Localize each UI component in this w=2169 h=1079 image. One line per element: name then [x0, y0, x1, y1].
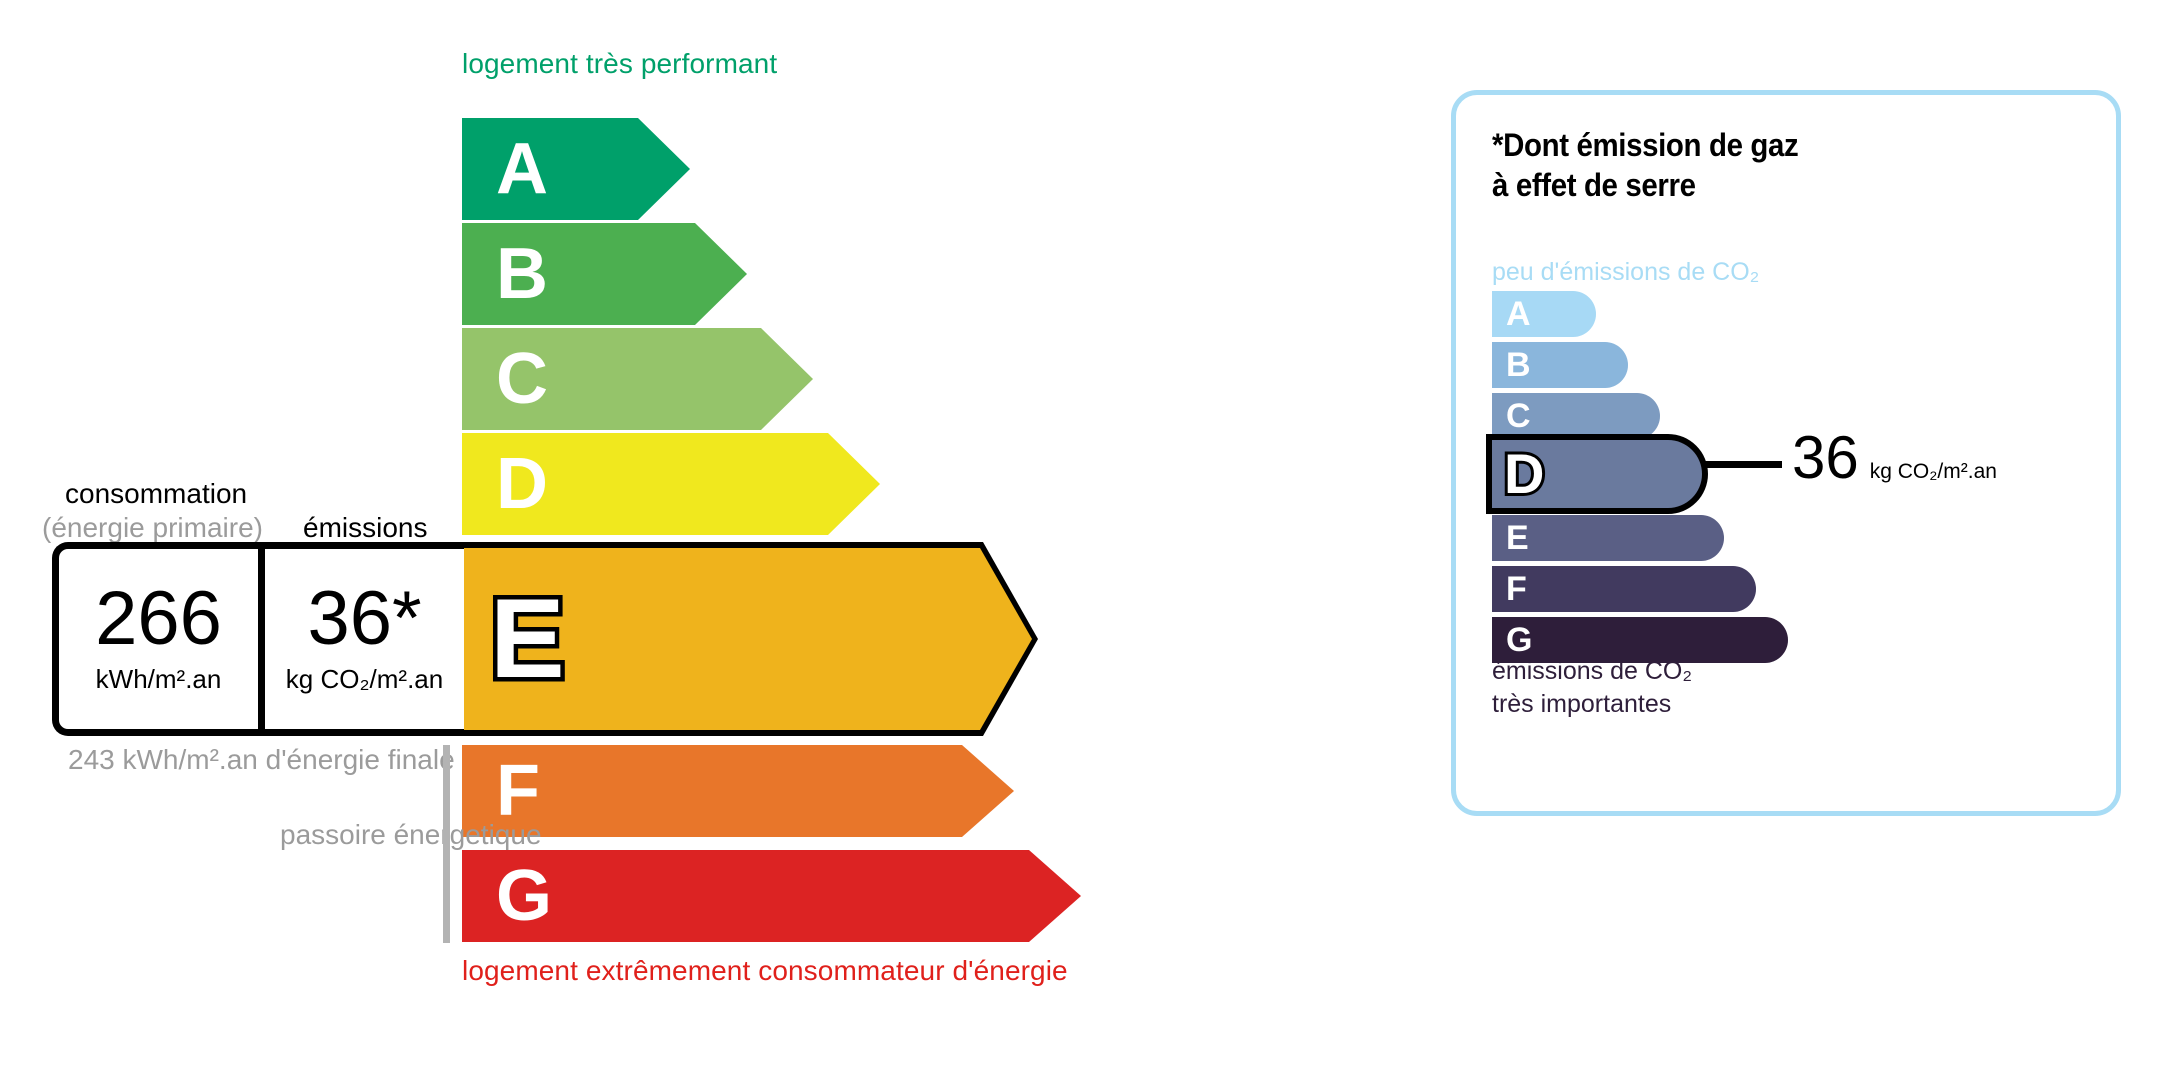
energy-arrow-shape: A — [462, 118, 690, 220]
co2-value-callout: 36 kg CO₂/m².an — [1792, 428, 1997, 488]
co2-bar-b: B — [1492, 342, 1628, 388]
energy-arrow-shape: E — [462, 548, 1032, 730]
dpe-diagram: logement très performant ABCDEFG 266 kWh… — [0, 0, 2169, 1079]
co2-bar-c: C — [1492, 393, 1660, 439]
energy-arrow-shape: B — [462, 223, 747, 325]
passoire-indicator-bar — [443, 745, 450, 943]
energy-arrow-shape: G — [462, 850, 1081, 942]
co2-value-number: 36 — [1792, 428, 1859, 488]
energy-performance-chart: logement très performant ABCDEFG 266 kWh… — [0, 0, 1330, 1079]
energy-class-letter: C — [496, 343, 548, 415]
label-energie-finale: 243 kWh/m².an d'énergie finale — [68, 742, 455, 779]
label-consommation: consommation — [65, 478, 247, 510]
energy-arrow-shape: D — [462, 433, 880, 535]
co2-value-unit: kg CO₂/m².an — [1870, 460, 1997, 484]
co2-class-letter: B — [1506, 348, 1531, 382]
energy-arrow-shape: C — [462, 328, 813, 430]
emission-value: 36* kg CO₂/m².an — [258, 549, 464, 729]
co2-top-caption: peu d'émissions de CO₂ — [1492, 258, 1759, 287]
energy-class-letter: D — [496, 448, 548, 520]
co2-bar-fill: D — [1492, 440, 1702, 508]
co2-bar-fill: C — [1492, 393, 1660, 439]
co2-class-letter: D — [1504, 446, 1544, 502]
co2-class-letter: C — [1506, 399, 1531, 433]
co2-bar-fill: E — [1492, 515, 1724, 561]
co2-panel: *Dont émission de gaz à effet de serre p… — [1451, 90, 2121, 816]
energy-class-letter: A — [496, 133, 548, 205]
energy-arrow-fill — [462, 850, 1081, 942]
primary-energy-unit: kWh/m².an — [96, 664, 222, 695]
energy-class-letter: G — [496, 860, 552, 932]
co2-bar-f: F — [1492, 566, 1756, 612]
energy-bar-e: E — [462, 548, 1032, 730]
label-passoire-energetique: passoire énergetique — [280, 817, 440, 854]
co2-bar-fill: B — [1492, 342, 1628, 388]
emission-number: 36* — [307, 583, 421, 655]
co2-class-letter: G — [1506, 623, 1532, 657]
energy-top-caption: logement très performant — [462, 48, 777, 80]
co2-class-letter: F — [1506, 572, 1527, 606]
co2-bottom-caption: émissions de CO₂ très importantes — [1492, 655, 1692, 720]
co2-bar-e: E — [1492, 515, 1724, 561]
co2-bar-d: D — [1492, 440, 1702, 508]
co2-bar-fill: A — [1492, 291, 1596, 337]
co2-class-letter: A — [1506, 297, 1531, 331]
primary-energy-number: 266 — [95, 583, 222, 655]
energy-class-letter: F — [496, 755, 540, 827]
energy-bar-b: B — [462, 223, 747, 325]
energy-bar-c: C — [462, 328, 813, 430]
energy-bar-g: G — [462, 850, 1081, 942]
energy-class-letter: B — [496, 238, 548, 310]
energy-bar-f: F — [462, 745, 1014, 837]
energy-bar-a: A — [462, 118, 690, 220]
co2-panel-title: *Dont émission de gaz à effet de serre — [1492, 125, 1798, 206]
label-emissions: émissions — [303, 512, 427, 544]
co2-class-letter: E — [1506, 521, 1529, 555]
co2-bar-a: A — [1492, 291, 1596, 337]
energy-bar-d: D — [462, 433, 880, 535]
label-energie-primaire: (énergie primaire) — [42, 512, 263, 544]
co2-bar-fill: F — [1492, 566, 1756, 612]
emission-unit: kg CO₂/m².an — [286, 664, 443, 695]
energy-class-letter: E — [490, 583, 565, 695]
primary-energy-value: 266 kWh/m².an — [59, 549, 258, 729]
energy-arrow-fill — [462, 745, 1014, 837]
energy-bottom-caption: logement extrêmement consommateur d'éner… — [462, 955, 1068, 987]
energy-value-box: 266 kWh/m².an 36* kg CO₂/m².an — [52, 542, 464, 736]
energy-arrow-shape: F — [462, 745, 1014, 837]
co2-leader-line — [1702, 461, 1782, 468]
